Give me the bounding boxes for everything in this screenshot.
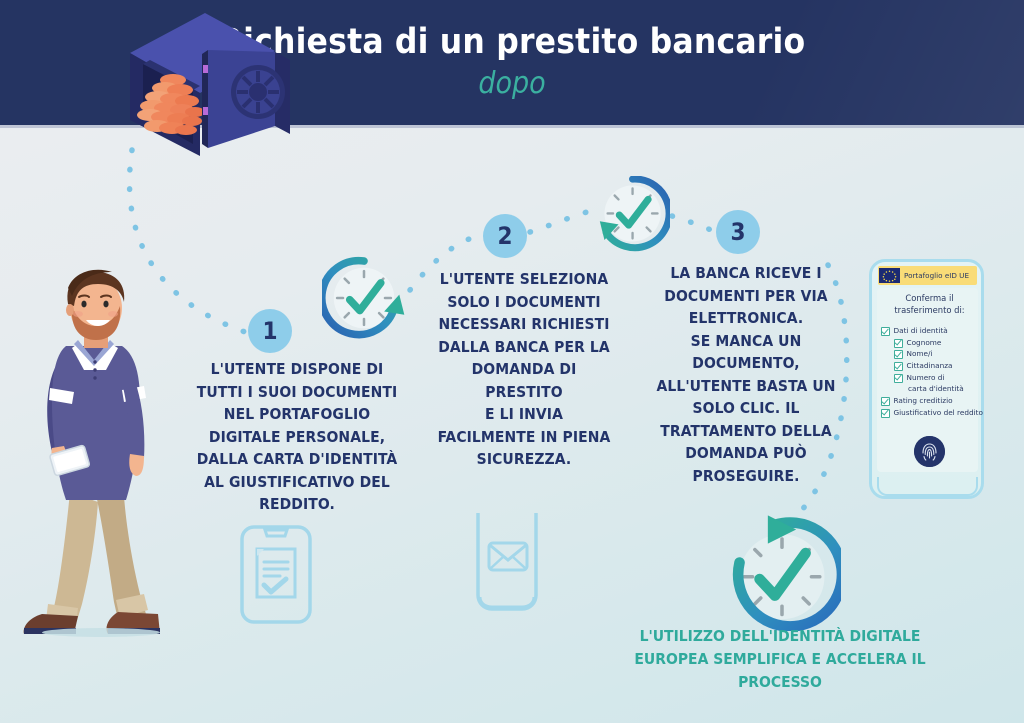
wallet-card-foot (877, 477, 978, 496)
wallet-consent-label: Giustificativo del reddito (894, 408, 983, 419)
wallet-consent-item[interactable]: Rating creditizio (881, 396, 986, 407)
checkbox-checked-icon[interactable] (894, 362, 903, 371)
checkbox-checked-icon[interactable] (881, 397, 890, 406)
wallet-consent-label: Rating creditizio (894, 396, 953, 407)
phone-with-envelope-icon (470, 513, 544, 613)
step-text-1: L'UTENTE DISPONE DI TUTTI I SUOI DOCUMEN… (172, 358, 422, 516)
checkbox-checked-icon[interactable] (894, 350, 903, 359)
wallet-consent-item[interactable]: carta d'identità (908, 384, 986, 395)
wallet-consent-item[interactable]: Giustificativo del reddito (881, 408, 986, 419)
wallet-consent-item[interactable]: Cittadinanza (894, 361, 986, 372)
wallet-consent-label: Dati di identità (894, 326, 948, 337)
wallet-heading: Conferma il trasferimento di: (872, 292, 987, 316)
step-badge-2: 2 (483, 214, 527, 258)
bank-vault-icon (110, 8, 315, 158)
eu-flag-icon (879, 268, 900, 283)
infographic-canvas: Richiesta di un prestito bancario dopo (0, 0, 1024, 723)
wallet-consent-label: carta d'identità (908, 384, 964, 395)
checkbox-checked-icon[interactable] (894, 339, 903, 348)
step-badge-1: 1 (248, 309, 292, 353)
checkbox-checked-icon[interactable] (881, 409, 890, 418)
phone-with-document-check-icon (238, 523, 314, 626)
wallet-consent-label: Nome/i (907, 349, 933, 360)
conclusion-text: L'UTILIZZO DELL'IDENTITÀ DIGITALE EUROPE… (600, 625, 960, 694)
wallet-consent-item[interactable]: Cognome (894, 338, 986, 349)
checkbox-checked-icon[interactable] (894, 374, 903, 383)
wallet-consent-item[interactable]: Nome/i (894, 349, 986, 360)
clock-arrow-check-icon-2 (592, 176, 670, 254)
fingerprint-icon[interactable] (914, 436, 945, 467)
wallet-consent-label: Numero di (907, 373, 945, 384)
person-ground-shadow (42, 628, 160, 637)
step-text-2: L'UTENTE SELEZIONA SOLO I DOCUMENTI NECE… (418, 268, 630, 471)
step-text-3: LA BANCA RICEVE I DOCUMENTI PER VIA ELET… (640, 262, 852, 487)
wallet-band: Portafoglio eID UE (878, 266, 977, 285)
eid-wallet-card[interactable]: Portafoglio eID UE Conferma il trasferim… (869, 259, 984, 499)
person-illustration (18, 262, 198, 637)
wallet-band-label: Portafoglio eID UE (904, 271, 969, 280)
clock-arrow-check-icon-3 (723, 513, 841, 631)
wallet-consent-item[interactable]: Numero di (894, 373, 986, 384)
wallet-consent-list[interactable]: Dati di identitàCognomeNome/iCittadinanz… (881, 326, 986, 420)
step-badge-3: 3 (716, 210, 760, 254)
wallet-consent-label: Cognome (907, 338, 942, 349)
header-shade (604, 0, 1024, 125)
wallet-consent-label: Cittadinanza (907, 361, 953, 372)
checkbox-checked-icon[interactable] (881, 327, 890, 336)
clock-arrow-check-icon-1 (322, 256, 406, 340)
wallet-consent-item[interactable]: Dati di identità (881, 326, 986, 337)
